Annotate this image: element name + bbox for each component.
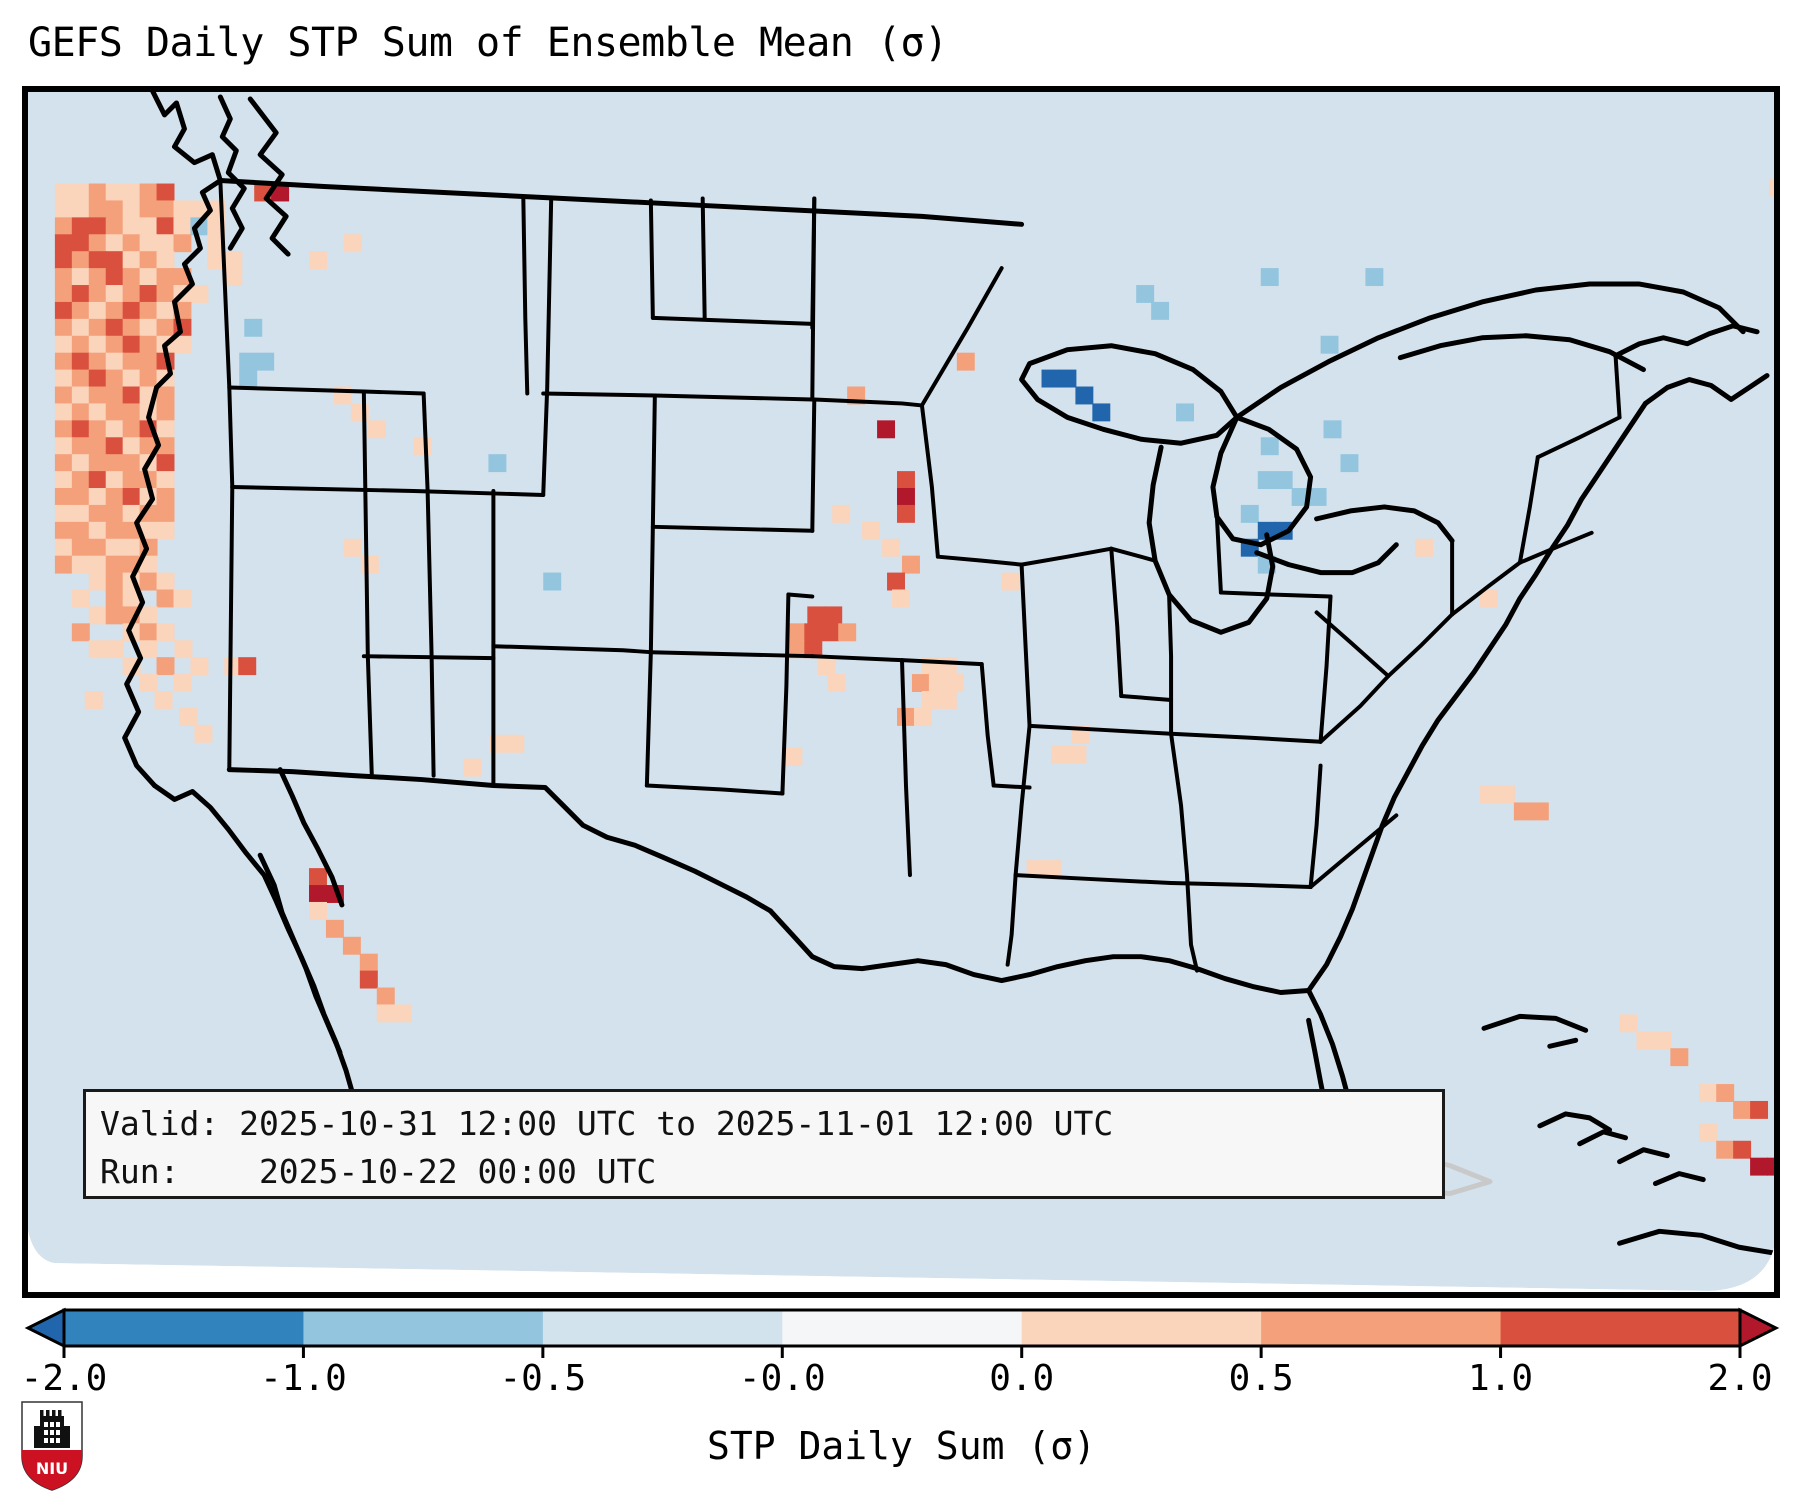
- stp-cell: [344, 539, 362, 557]
- colorbar-tick-label: 2.0: [1707, 1358, 1772, 1399]
- stp-cell: [877, 420, 895, 438]
- niu-wordmark: NIU: [36, 1459, 68, 1478]
- stp-cell: [123, 454, 141, 472]
- stp-cell: [89, 471, 107, 489]
- colorbar-segment: [782, 1310, 1022, 1346]
- stp-cell: [89, 573, 107, 591]
- colorbar-segment: [1261, 1310, 1501, 1346]
- colorbar-tick-label: 1.0: [1468, 1358, 1533, 1399]
- page-title: GEFS Daily STP Sum of Ensemble Mean (σ): [28, 20, 948, 66]
- stp-cell: [85, 691, 103, 709]
- stp-cell: [72, 420, 90, 438]
- stp-cell: [1002, 573, 1020, 591]
- stp-cell: [89, 640, 107, 658]
- stp-cell: [256, 353, 274, 371]
- stp-cell: [157, 420, 175, 438]
- stp-cell: [1068, 746, 1086, 764]
- stp-cell: [89, 251, 107, 269]
- stp-cell: [106, 640, 124, 658]
- colorbar-tick-label: -2.0: [21, 1358, 108, 1399]
- stp-cell: [89, 353, 107, 371]
- stp-cell: [89, 403, 107, 421]
- stp-cell: [140, 353, 158, 371]
- stp-cell: [1699, 1124, 1717, 1142]
- stp-cell: [244, 319, 262, 337]
- stp-cell: [1136, 285, 1154, 303]
- colorbar-axis-label: STP Daily Sum (σ): [0, 1424, 1803, 1468]
- stp-cell: [106, 505, 124, 523]
- stp-cell: [1340, 454, 1358, 472]
- stp-cell: [1620, 1014, 1638, 1032]
- stp-cell: [173, 234, 191, 252]
- stp-cell: [72, 234, 90, 252]
- stp-cell: [309, 251, 327, 269]
- stp-cell: [72, 488, 90, 506]
- stp-cell: [72, 556, 90, 574]
- stp-cell: [157, 251, 175, 269]
- stp-cell: [55, 353, 73, 371]
- stp-cell: [140, 184, 158, 202]
- colorbar-tick-label: 0.5: [1229, 1358, 1294, 1399]
- stp-cell: [72, 370, 90, 388]
- colorbar-segment: [1501, 1310, 1741, 1346]
- stp-cell: [157, 454, 175, 472]
- stp-cell: [224, 268, 242, 286]
- stp-cell: [123, 302, 141, 320]
- stp-cell: [140, 319, 158, 337]
- stp-cell: [55, 539, 73, 557]
- stp-cell: [1321, 336, 1339, 354]
- valid-time-line: Valid: 2025-10-31 12:00 UTC to 2025-11-0…: [100, 1100, 1428, 1148]
- stp-cell: [157, 522, 175, 540]
- stp-cell: [414, 437, 432, 455]
- stp-cell: [343, 937, 361, 955]
- stp-cell: [89, 539, 107, 557]
- stp-cell: [72, 217, 90, 235]
- stp-cell: [55, 251, 73, 269]
- stp-cell: [155, 691, 173, 709]
- stp-cell: [173, 590, 191, 608]
- stp-cell: [157, 657, 175, 675]
- stp-cell: [394, 1004, 412, 1022]
- colorbar-tick-label: 0.0: [989, 1358, 1054, 1399]
- stp-cell: [360, 954, 378, 972]
- stp-cell: [89, 420, 107, 438]
- colorbar-segment: [303, 1310, 543, 1346]
- stp-cell: [55, 184, 73, 202]
- stp-cell: [897, 505, 915, 523]
- stp-cell: [55, 234, 73, 252]
- valid-time-infobox: Valid: 2025-10-31 12:00 UTC to 2025-11-0…: [83, 1089, 1445, 1199]
- stp-cell: [106, 454, 124, 472]
- stp-cell: [123, 285, 141, 303]
- stp-cell: [123, 200, 141, 218]
- stp-cell: [804, 623, 822, 641]
- stp-cell: [157, 505, 175, 523]
- stp-cell: [929, 674, 947, 692]
- stp-cell: [817, 657, 835, 675]
- stp-cell: [488, 454, 506, 472]
- stp-cell: [123, 471, 141, 489]
- stp-cell: [89, 285, 107, 303]
- stp-cell: [1151, 302, 1169, 320]
- stp-cell: [123, 539, 141, 557]
- stp-cell: [55, 319, 73, 337]
- stp-cell: [106, 403, 124, 421]
- stp-cell: [239, 353, 257, 371]
- stp-cell: [55, 336, 73, 354]
- stp-cell: [55, 471, 73, 489]
- stp-cell: [106, 606, 124, 624]
- stp-cell: [194, 725, 212, 743]
- stp-cell: [89, 606, 107, 624]
- stp-cell: [106, 437, 124, 455]
- stp-cell: [106, 556, 124, 574]
- stp-cell: [1324, 420, 1342, 438]
- stp-cell: [157, 573, 175, 591]
- stp-cell: [123, 268, 141, 286]
- stp-cell: [239, 370, 257, 388]
- stp-cell: [824, 606, 842, 624]
- stp-cell: [1261, 268, 1279, 286]
- stp-cell: [123, 251, 141, 269]
- stp-cell: [157, 387, 175, 405]
- stp-cell: [821, 623, 839, 641]
- stp-cell: [72, 387, 90, 405]
- stp-cell: [157, 268, 175, 286]
- stp-cell: [179, 708, 197, 726]
- stp-cell: [1480, 786, 1498, 804]
- stp-cell: [897, 488, 915, 506]
- stp-cell: [89, 522, 107, 540]
- stp-cell: [72, 623, 90, 641]
- stp-cell: [140, 234, 158, 252]
- stp-cell: [89, 184, 107, 202]
- colorbar-segment: [64, 1310, 304, 1346]
- stp-cell: [106, 590, 124, 608]
- stp-cell: [157, 623, 175, 641]
- stp-cell: [190, 657, 208, 675]
- stp-cell: [157, 319, 175, 337]
- stp-cell: [1653, 1031, 1671, 1049]
- stp-cell: [55, 488, 73, 506]
- stp-cell: [1092, 403, 1110, 421]
- stp-cell: [1176, 403, 1194, 421]
- stp-cell: [89, 234, 107, 252]
- stp-cell: [72, 353, 90, 371]
- stp-cell: [914, 708, 932, 726]
- stp-cell: [55, 454, 73, 472]
- stp-cell: [957, 353, 975, 371]
- stp-cell: [72, 268, 90, 286]
- stp-cell: [946, 674, 964, 692]
- stp-cell: [89, 302, 107, 320]
- stp-cell: [1733, 1101, 1751, 1119]
- stp-cell: [123, 234, 141, 252]
- stp-cell: [140, 336, 158, 354]
- stp-cell: [140, 200, 158, 218]
- stp-cell: [106, 285, 124, 303]
- stp-cell: [123, 217, 141, 235]
- stp-cell: [106, 488, 124, 506]
- stp-cell: [106, 336, 124, 354]
- stp-cell: [140, 268, 158, 286]
- stp-cell: [190, 285, 208, 303]
- stp-cell: [173, 674, 191, 692]
- stp-cell: [784, 748, 802, 766]
- stp-cell: [1699, 1084, 1717, 1102]
- stp-cell: [1636, 1031, 1654, 1049]
- stp-cell: [106, 302, 124, 320]
- stp-cell: [157, 302, 175, 320]
- stp-cell: [106, 539, 124, 557]
- colorbar-ticks: [64, 1346, 1740, 1358]
- stp-cell: [72, 471, 90, 489]
- stp-cell: [106, 387, 124, 405]
- stp-cell: [123, 437, 141, 455]
- stp-cell: [106, 319, 124, 337]
- stp-cell: [309, 885, 327, 903]
- stp-cell: [157, 200, 175, 218]
- stp-cell: [1531, 802, 1549, 820]
- stp-cell: [55, 505, 73, 523]
- stp-cell: [106, 471, 124, 489]
- stp-cell: [1261, 437, 1279, 455]
- stp-cell: [543, 573, 561, 591]
- stp-cell: [89, 454, 107, 472]
- stp-cell: [55, 556, 73, 574]
- stp-cell: [89, 370, 107, 388]
- stp-cell: [72, 539, 90, 557]
- stp-cell: [106, 353, 124, 371]
- stp-cell: [72, 590, 90, 608]
- stp-cell: [55, 437, 73, 455]
- stp-cell: [827, 674, 845, 692]
- stp-cell: [1716, 1141, 1734, 1159]
- stp-cell: [1415, 539, 1433, 557]
- stp-cell: [787, 623, 805, 641]
- stp-cell: [1275, 471, 1293, 489]
- colorbar-tick-label: -0.5: [499, 1358, 586, 1399]
- stp-cell: [140, 640, 158, 658]
- stp-cell: [140, 302, 158, 320]
- stp-cell: [912, 674, 930, 692]
- stp-cell: [140, 217, 158, 235]
- stp-cell: [140, 251, 158, 269]
- stp-cell: [939, 691, 957, 709]
- stp-cell: [89, 319, 107, 337]
- stp-cell: [106, 217, 124, 235]
- colorbar-segment: [1022, 1310, 1262, 1346]
- stp-cell: [72, 505, 90, 523]
- colorbar-over-arrow: [1740, 1310, 1776, 1346]
- stp-cell: [72, 522, 90, 540]
- stp-cell: [106, 184, 124, 202]
- stp-cell: [1051, 746, 1069, 764]
- castle-windows: [44, 1422, 60, 1443]
- stp-cell: [882, 539, 900, 557]
- stp-cell: [55, 370, 73, 388]
- stp-cell: [55, 200, 73, 218]
- stp-cell: [89, 437, 107, 455]
- stp-cell: [123, 370, 141, 388]
- stp-cell: [1733, 1141, 1751, 1159]
- stp-cell: [1309, 488, 1327, 506]
- stp-cell: [123, 336, 141, 354]
- stp-cell: [1042, 370, 1060, 388]
- stp-cell: [377, 1004, 395, 1022]
- stp-cell: [1514, 802, 1532, 820]
- stp-cell: [1670, 1048, 1688, 1066]
- stp-cell: [157, 285, 175, 303]
- stp-cell: [89, 217, 107, 235]
- stp-cell: [922, 691, 940, 709]
- map-panel[interactable]: Valid: 2025-10-31 12:00 UTC to 2025-11-0…: [22, 86, 1780, 1298]
- colorbar-svg[interactable]: [0, 1300, 1803, 1358]
- stp-cell: [55, 522, 73, 540]
- stp-cell: [1750, 1101, 1768, 1119]
- stp-cell: [173, 217, 191, 235]
- stp-cell: [123, 403, 141, 421]
- stp-cell: [309, 902, 327, 920]
- stp-cell: [157, 488, 175, 506]
- stp-cell: [157, 471, 175, 489]
- stp-cell: [173, 200, 191, 218]
- stp-cell: [72, 454, 90, 472]
- stp-cell: [72, 403, 90, 421]
- run-time-line: Run: 2025-10-22 00:00 UTC: [100, 1148, 1428, 1196]
- colorbar-segments: [28, 1310, 1776, 1346]
- stp-cell: [140, 573, 158, 591]
- stp-cell: [838, 623, 856, 641]
- stp-cell: [106, 200, 124, 218]
- stp-cell: [89, 336, 107, 354]
- stp-cell: [89, 387, 107, 405]
- stp-cell: [140, 623, 158, 641]
- stp-cell: [377, 988, 395, 1006]
- stp-cell: [902, 556, 920, 574]
- stp-cell: [224, 251, 242, 269]
- stp-cell: [157, 234, 175, 252]
- stp-cell: [140, 285, 158, 303]
- stp-cell: [72, 319, 90, 337]
- stp-cell: [368, 420, 386, 438]
- stp-cell: [123, 319, 141, 337]
- stp-cell: [123, 488, 141, 506]
- stp-cell: [55, 387, 73, 405]
- stp-cell: [55, 217, 73, 235]
- stp-cell: [55, 403, 73, 421]
- stp-cell: [887, 573, 905, 591]
- stp-cell: [72, 437, 90, 455]
- stp-cell: [55, 268, 73, 286]
- stp-cell: [72, 251, 90, 269]
- stp-cell: [123, 353, 141, 371]
- colorbar-under-arrow: [28, 1310, 64, 1346]
- stp-cell: [72, 184, 90, 202]
- stp-cell: [106, 420, 124, 438]
- stp-cell: [807, 606, 825, 624]
- stp-cell: [89, 200, 107, 218]
- stp-cell: [309, 868, 327, 886]
- stp-cell: [157, 403, 175, 421]
- stp-cell: [897, 471, 915, 489]
- stp-cell: [360, 971, 378, 989]
- stp-cell: [106, 370, 124, 388]
- stp-cell: [1497, 786, 1515, 804]
- stp-cell: [463, 759, 481, 777]
- stp-cell: [89, 556, 107, 574]
- stp-cell: [123, 387, 141, 405]
- stp-cell: [238, 657, 256, 675]
- stp-cell: [123, 184, 141, 202]
- stp-cell: [72, 302, 90, 320]
- colorbar-segment: [543, 1310, 783, 1346]
- stp-cell: [1716, 1084, 1734, 1102]
- stp-cell: [106, 573, 124, 591]
- stp-cell: [832, 505, 850, 523]
- colorbar-tick-label: -1.0: [260, 1358, 347, 1399]
- stp-cell: [1365, 268, 1383, 286]
- stp-cell: [157, 184, 175, 202]
- stp-cell: [1241, 505, 1259, 523]
- stp-cell: [344, 234, 362, 252]
- stp-cell: [939, 657, 957, 675]
- stp-cell: [55, 285, 73, 303]
- stp-cell: [892, 590, 910, 608]
- stp-cell: [361, 556, 379, 574]
- stp-cell: [89, 488, 107, 506]
- stp-cell: [506, 735, 524, 753]
- stp-cell: [72, 285, 90, 303]
- stp-cell: [123, 420, 141, 438]
- colorbar-tick-label: -0.0: [739, 1358, 826, 1399]
- stp-cell: [72, 336, 90, 354]
- stp-cell: [157, 590, 175, 608]
- stp-cell: [89, 268, 107, 286]
- stp-cell: [1258, 471, 1276, 489]
- stp-cell: [1075, 387, 1093, 405]
- stp-cell: [157, 217, 175, 235]
- colorbar-tick-labels: -2.0-1.0-0.5-0.00.00.51.02.0: [0, 1358, 1803, 1408]
- stp-cell: [106, 251, 124, 269]
- stp-cell: [1058, 370, 1076, 388]
- stp-cell: [89, 505, 107, 523]
- stp-cell: [140, 370, 158, 388]
- stp-cell: [106, 234, 124, 252]
- colorbar[interactable]: -2.0-1.0-0.5-0.00.00.51.02.0: [0, 1300, 1803, 1370]
- stp-cell: [55, 420, 73, 438]
- stp-cell: [106, 268, 124, 286]
- stp-cell: [326, 920, 344, 938]
- stp-cell: [140, 606, 158, 624]
- stp-cell: [1750, 1158, 1768, 1176]
- stp-cell: [140, 674, 158, 692]
- stp-cell: [106, 522, 124, 540]
- stp-cell: [55, 302, 73, 320]
- niu-logo: NIU: [16, 1400, 88, 1492]
- stp-cell: [862, 522, 880, 540]
- stp-cell: [72, 200, 90, 218]
- stp-cell: [174, 640, 192, 658]
